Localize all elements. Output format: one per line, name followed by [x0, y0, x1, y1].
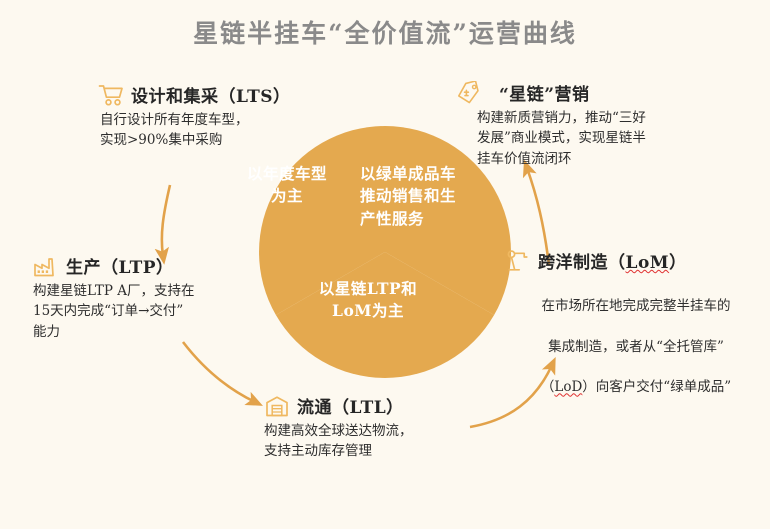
arrow-lts-to-ltp — [162, 185, 170, 256]
node-lom-title-prefix: 跨洋制造（ — [538, 253, 626, 273]
node-lom-body-line3-post: ）向客户交付“绿单成品” — [582, 379, 731, 395]
node-lom-body-line1: 在市场所在地完成完整半挂车的 — [505, 296, 767, 316]
node-ltl-body: 构建高效全球送达物流， 支持主动库存管理 — [264, 421, 499, 462]
node-lts-title: 设计和集采（LTS） — [131, 82, 291, 107]
pie-label-annual-model: 以年度车型 为主 — [231, 163, 343, 208]
node-lts[interactable]: 设计和集采（LTS） 自行设计所有年度车型， 实现>90%集中采购 — [100, 82, 330, 151]
node-marketing-header: “星链”营销 — [455, 80, 745, 105]
pie-label-ltp-lom: 以星链LTP和 LoM为主 — [288, 278, 448, 323]
node-ltp-title: 生产（LTP） — [66, 253, 174, 278]
warehouse-icon — [264, 394, 290, 418]
node-ltl[interactable]: 流通（LTL） 构建高效全球送达物流， 支持主动库存管理 — [264, 393, 499, 462]
node-lom-title-tag: LoM — [626, 253, 670, 273]
diagram-canvas: 星链半挂车“全价值流”运营曲线 以年度车型 为主 以绿单成品车 推动销售和生 产… — [0, 0, 770, 529]
node-ltp[interactable]: 生产（LTP） 构建星链LTP A厂，支持在 15天内完成“订单→交付” 能力 — [33, 253, 248, 342]
node-marketing-title: “星链”营销 — [499, 80, 590, 105]
node-lom-title-suffix: ） — [669, 253, 687, 273]
node-marketing-body: 构建新质营销力，推动“三好 发展”商业模式，实现星链半 挂车价值流闭环 — [477, 108, 745, 169]
shopping-cart-icon — [98, 83, 124, 107]
node-ltl-header: 流通（LTL） — [264, 393, 499, 418]
node-lom-body-line2: 集成制造，或者从“全托管库” — [505, 337, 767, 357]
pie-label-green-order-vehicle: 以绿单成品车 推动销售和生 产性服务 — [360, 163, 460, 230]
node-lom-body-line3-pre: （ — [541, 379, 555, 395]
node-lom[interactable]: 跨洋制造（LoM） 在市场所在地完成完整半挂车的 集成制造，或者从“全托管库” … — [505, 248, 767, 418]
node-lom-header: 跨洋制造（LoM） — [505, 248, 767, 273]
factory-icon — [33, 254, 59, 278]
node-lom-body-line3: （LoD）向客户交付“绿单成品” — [505, 377, 767, 397]
node-lom-body-line3-tag: LoD — [554, 379, 582, 395]
price-tag-icon — [455, 81, 481, 105]
robot-arm-icon — [505, 249, 531, 273]
node-lom-body: 在市场所在地完成完整半挂车的 集成制造，或者从“全托管库” （LoD）向客户交付… — [505, 276, 767, 418]
node-ltp-body: 构建星链LTP A厂，支持在 15天内完成“订单→交付” 能力 — [33, 281, 248, 342]
node-ltp-header: 生产（LTP） — [33, 253, 248, 278]
node-lts-header: 设计和集采（LTS） — [98, 82, 330, 107]
arrow-ltp-to-ltl — [183, 342, 255, 402]
node-marketing[interactable]: “星链”营销 构建新质营销力，推动“三好 发展”商业模式，实现星链半 挂车价值流… — [455, 80, 745, 169]
node-ltl-title: 流通（LTL） — [297, 393, 404, 418]
node-lts-body: 自行设计所有年度车型， 实现>90%集中采购 — [100, 110, 330, 151]
node-lom-title: 跨洋制造（LoM） — [538, 248, 687, 273]
